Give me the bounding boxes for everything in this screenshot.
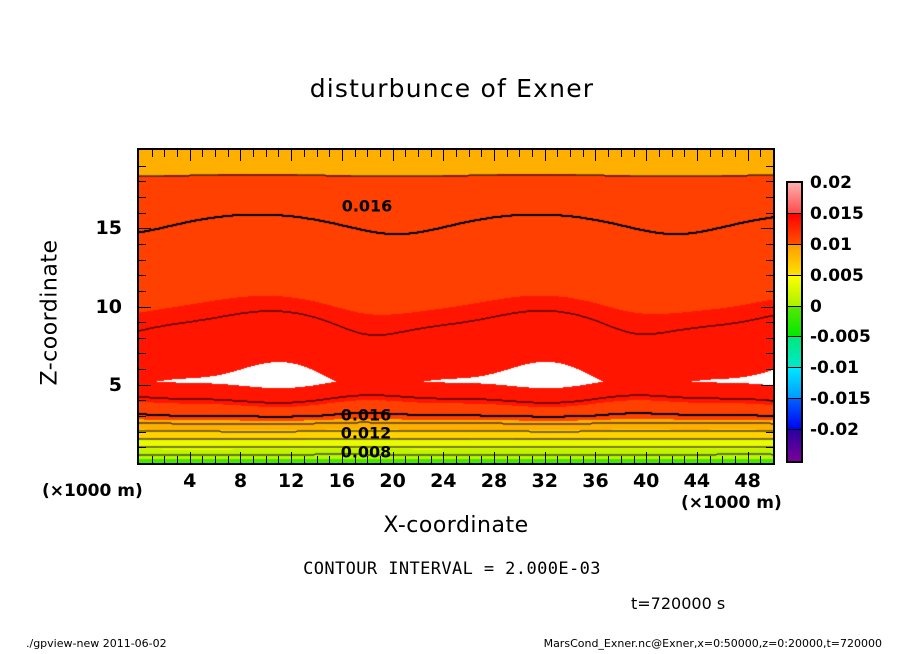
x-tick: [519, 456, 520, 463]
x-tick-top: [608, 150, 609, 157]
z-tick-right: [766, 275, 773, 276]
x-tick-top: [659, 150, 660, 157]
x-tick: [722, 456, 723, 463]
x-tick: [735, 456, 736, 463]
z-tick: [139, 338, 146, 339]
x-tick-top: [621, 150, 622, 157]
x-tick-top: [228, 150, 229, 157]
x-tick-top: [456, 150, 457, 157]
x-tick-top: [380, 150, 381, 157]
x-tick: [253, 456, 254, 463]
x-tick: [621, 456, 622, 463]
z-tick-right: [761, 385, 773, 386]
z-tick: [139, 166, 146, 167]
z-tick: [139, 400, 146, 401]
x-tick: [291, 452, 292, 463]
x-tick: [760, 456, 761, 463]
colorbar-tick-label: -0.005: [810, 327, 871, 347]
x-tick: [431, 456, 432, 463]
z-tick-right: [766, 400, 773, 401]
x-tick-top: [266, 150, 267, 157]
z-tick-right: [766, 447, 773, 448]
x-tick-top: [405, 150, 406, 157]
x-tick-top: [253, 150, 254, 157]
x-tick-top: [507, 150, 508, 157]
x-tick: [634, 456, 635, 463]
colorbar-band: [788, 214, 801, 245]
x-tick-label: 36: [582, 470, 608, 492]
y-axis-tick-labels: 51015: [62, 0, 122, 654]
z-tick: [139, 353, 146, 354]
x-tick-top: [697, 150, 698, 161]
z-tick-right: [766, 369, 773, 370]
x-tick-top: [646, 150, 647, 161]
colorbar-band: [788, 368, 801, 399]
contour-field-canvas: [139, 150, 773, 463]
x-tick-top: [634, 150, 635, 157]
x-tick-top: [215, 150, 216, 157]
contour-value-label: 0.012: [341, 424, 392, 443]
z-tick: [139, 307, 151, 308]
z-tick: [139, 291, 146, 292]
x-tick-top: [519, 150, 520, 157]
x-tick: [278, 456, 279, 463]
colorbar-band: [788, 399, 801, 430]
x-tick: [177, 456, 178, 463]
x-tick-top: [443, 150, 444, 161]
x-tick: [545, 452, 546, 463]
z-tick: [139, 275, 146, 276]
colorbar-tick-label: 0.01: [810, 235, 852, 255]
x-tick-top: [393, 150, 394, 161]
x-tick-top: [760, 150, 761, 157]
colorbar-band: [788, 183, 801, 214]
z-tick-label: 5: [62, 374, 122, 396]
x-tick-label: 16: [329, 470, 355, 492]
page-title: disturbunce of Exner: [0, 74, 904, 103]
x-tick: [304, 456, 305, 463]
x-tick: [228, 456, 229, 463]
x-tick-label: 44: [684, 470, 710, 492]
x-unit-note: (×1000 m): [681, 493, 782, 513]
x-tick-label: 24: [430, 470, 456, 492]
footer-source: MarsCond_Exner.nc@Exner,x=0:50000,z=0:20…: [544, 637, 882, 650]
x-tick: [393, 452, 394, 463]
x-tick: [672, 456, 673, 463]
z-tick: [139, 244, 146, 245]
x-tick: [317, 456, 318, 463]
x-tick-top: [329, 150, 330, 157]
x-tick-top: [317, 150, 318, 157]
x-tick-top: [431, 150, 432, 157]
colorbar-tick-label: -0.01: [810, 358, 859, 378]
x-tick-top: [722, 150, 723, 157]
x-tick-top: [469, 150, 470, 157]
x-tick: [266, 456, 267, 463]
x-tick-top: [684, 150, 685, 157]
x-tick: [659, 456, 660, 463]
x-tick: [557, 456, 558, 463]
x-tick-label: 40: [633, 470, 659, 492]
x-tick: [443, 452, 444, 463]
colorbar-band: [788, 307, 801, 338]
x-tick: [608, 456, 609, 463]
x-tick: [164, 456, 165, 463]
x-tick-top: [304, 150, 305, 157]
x-tick-top: [583, 150, 584, 157]
x-tick-top: [164, 150, 165, 157]
x-tick: [646, 452, 647, 463]
x-tick-top: [367, 150, 368, 157]
x-tick: [481, 456, 482, 463]
x-tick-top: [481, 150, 482, 157]
x-tick-label: 12: [278, 470, 304, 492]
z-tick-right: [761, 228, 773, 229]
x-tick-label: 28: [481, 470, 507, 492]
x-tick-top: [202, 150, 203, 157]
y-axis-title: Z-coordinate: [38, 203, 63, 423]
z-tick: [139, 369, 146, 370]
x-tick-top: [570, 150, 571, 157]
x-tick-top: [532, 150, 533, 157]
z-tick: [139, 432, 146, 433]
colorbar: [786, 181, 803, 463]
z-tick: [139, 197, 146, 198]
z-tick-right: [766, 260, 773, 261]
colorbar-tick-label: 0.005: [810, 266, 864, 286]
x-tick: [532, 456, 533, 463]
x-tick-label: 8: [234, 470, 247, 492]
x-tick-top: [418, 150, 419, 157]
z-tick: [139, 213, 146, 214]
x-tick: [507, 456, 508, 463]
colorbar-tick-label: 0.02: [810, 173, 852, 193]
z-tick-label: 10: [62, 296, 122, 318]
z-tick-right: [766, 181, 773, 182]
x-tick: [405, 456, 406, 463]
contour-value-label: 0.016: [342, 197, 393, 216]
x-tick-top: [557, 150, 558, 157]
z-tick-right: [766, 197, 773, 198]
x-tick-label: 48: [734, 470, 760, 492]
colorbar-band: [788, 276, 801, 307]
x-tick: [748, 452, 749, 463]
x-tick-top: [748, 150, 749, 161]
z-tick-right: [766, 291, 773, 292]
z-tick: [139, 228, 151, 229]
x-tick: [710, 456, 711, 463]
z-tick: [139, 385, 151, 386]
x-tick-top: [545, 150, 546, 161]
z-tick-right: [766, 244, 773, 245]
x-tick: [190, 452, 191, 463]
colorbar-tick-label: 0.015: [810, 204, 864, 224]
z-tick: [139, 181, 146, 182]
x-tick: [583, 456, 584, 463]
contour-plot-area: [137, 148, 775, 465]
x-tick: [240, 452, 241, 463]
z-unit-note: (×1000 m): [42, 481, 143, 501]
x-tick-top: [672, 150, 673, 157]
x-tick-top: [735, 150, 736, 157]
x-tick-top: [355, 150, 356, 157]
z-tick-right: [766, 353, 773, 354]
x-tick: [202, 456, 203, 463]
x-tick-top: [177, 150, 178, 157]
contour-interval-note: CONTOUR INTERVAL = 2.000E-03: [0, 559, 904, 579]
colorbar-tick-label: 0: [810, 297, 822, 317]
x-tick-top: [291, 150, 292, 161]
z-tick-right: [761, 307, 773, 308]
contour-value-label: 0.008: [341, 443, 392, 462]
colorbar-band: [788, 337, 801, 368]
x-tick-label: 20: [379, 470, 405, 492]
z-tick: [139, 416, 146, 417]
z-tick-right: [766, 432, 773, 433]
colorbar-tick-label: -0.015: [810, 389, 871, 409]
z-tick-right: [766, 213, 773, 214]
colorbar-band: [788, 430, 801, 461]
x-tick-top: [152, 150, 153, 157]
colorbar-band: [788, 245, 801, 276]
x-tick-top: [710, 150, 711, 157]
x-tick: [494, 452, 495, 463]
x-tick: [215, 456, 216, 463]
x-tick-top: [494, 150, 495, 161]
x-tick: [570, 456, 571, 463]
x-tick: [329, 456, 330, 463]
x-tick-top: [595, 150, 596, 161]
z-tick-right: [766, 416, 773, 417]
x-tick: [456, 456, 457, 463]
z-tick: [139, 447, 146, 448]
x-tick: [697, 452, 698, 463]
x-tick-top: [240, 150, 241, 161]
x-tick-label: 32: [532, 470, 558, 492]
x-axis-title: X-coordinate: [137, 513, 775, 538]
contour-value-label: 0.016: [341, 406, 392, 425]
x-tick-top: [342, 150, 343, 161]
footer-command: ./gpview-new 2011-06-02: [26, 637, 167, 650]
z-tick-right: [766, 338, 773, 339]
x-tick: [469, 456, 470, 463]
z-tick: [139, 260, 146, 261]
colorbar-tick-label: -0.02: [810, 420, 859, 440]
x-tick-top: [190, 150, 191, 161]
x-tick: [418, 456, 419, 463]
z-tick-right: [766, 166, 773, 167]
z-tick: [139, 322, 146, 323]
z-tick-label: 15: [62, 217, 122, 239]
x-tick: [152, 456, 153, 463]
x-tick: [595, 452, 596, 463]
x-tick-label: 4: [183, 470, 196, 492]
time-annotation: t=720000 s: [631, 594, 725, 613]
x-tick-top: [278, 150, 279, 157]
z-tick-right: [766, 322, 773, 323]
x-tick: [684, 456, 685, 463]
